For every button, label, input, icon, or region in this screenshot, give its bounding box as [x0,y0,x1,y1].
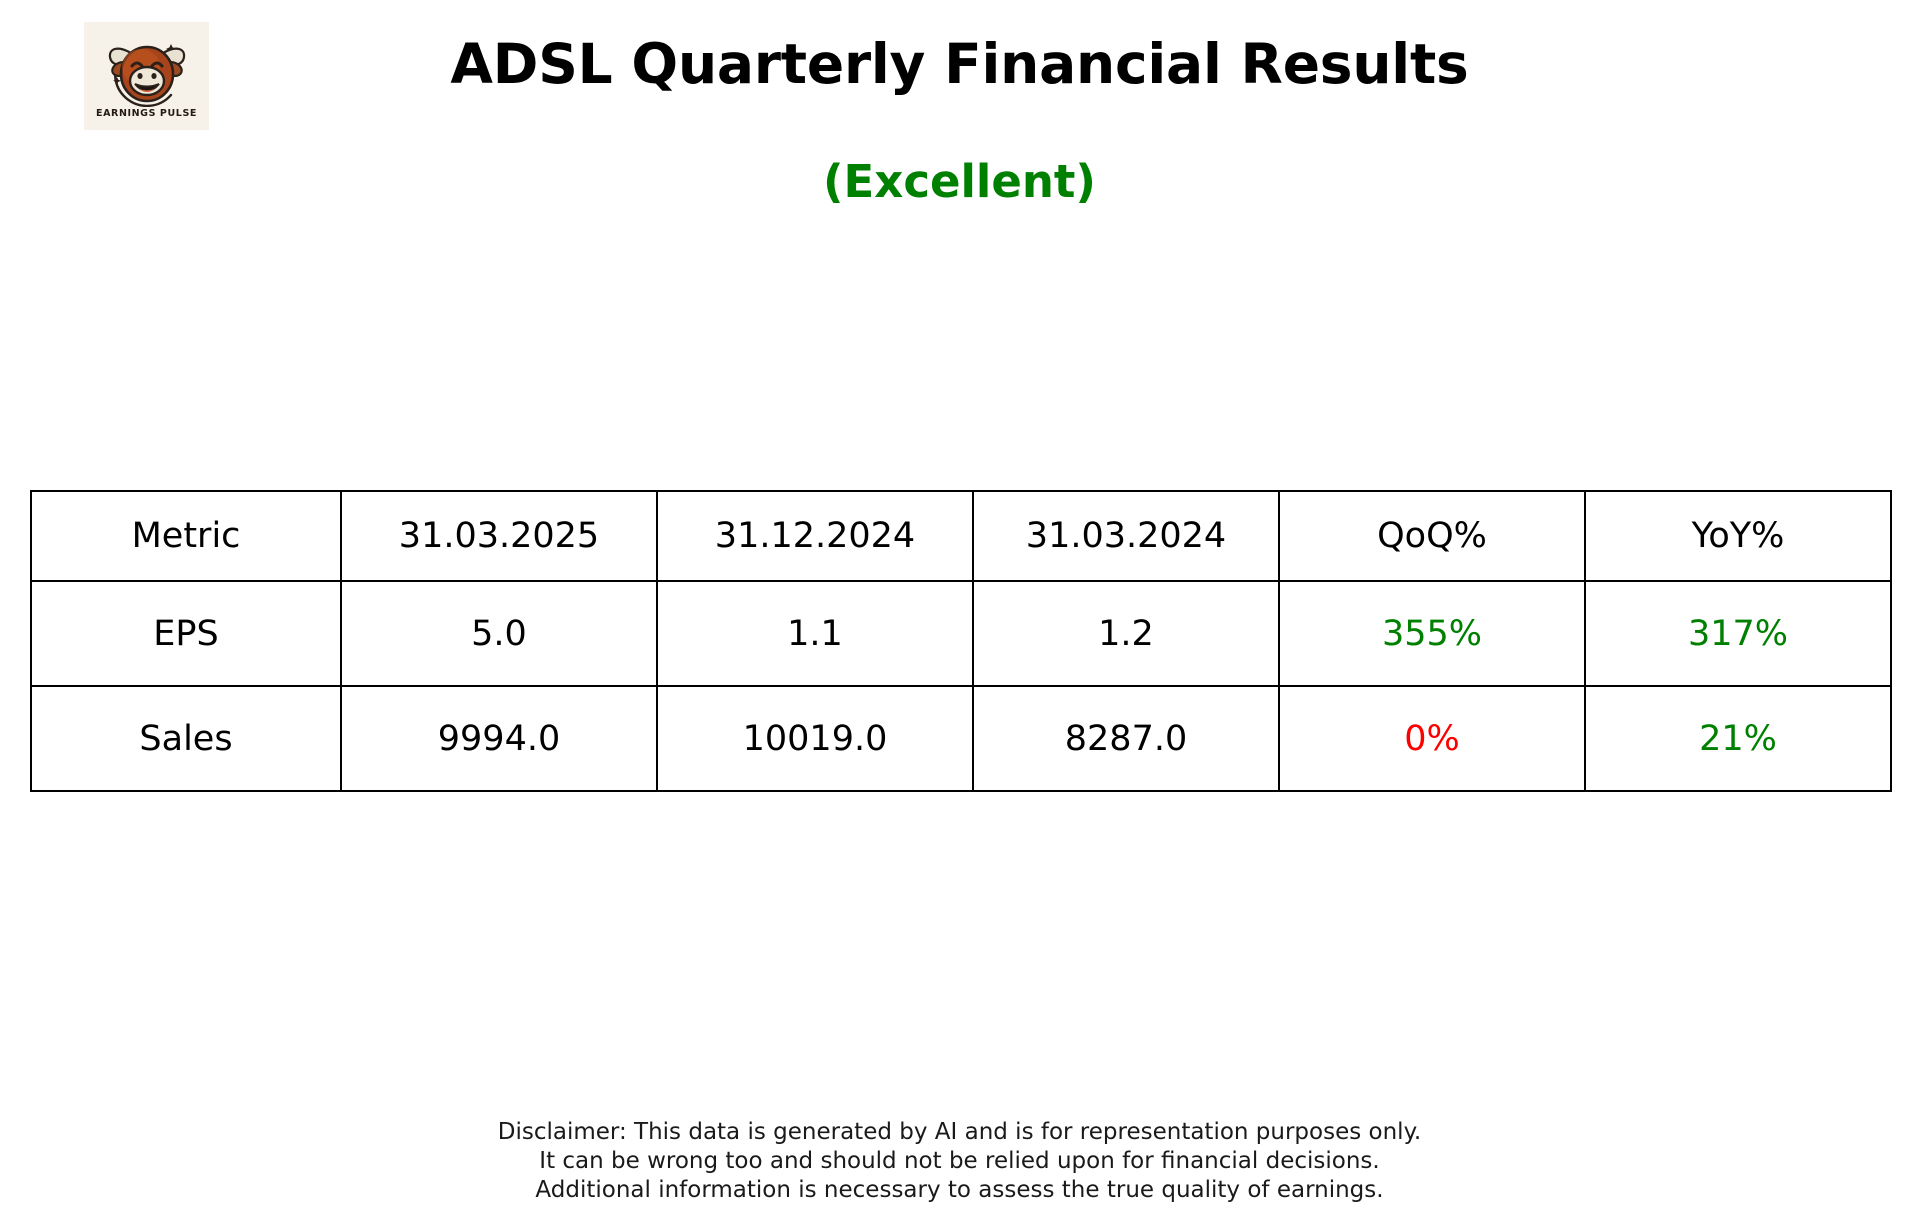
cell-q4-2024: 10019.0 [657,686,973,791]
disclaimer-line-3: Additional information is necessary to a… [0,1176,1919,1205]
column-header-q4-2024: 31.12.2024 [657,491,973,581]
cell-q1-2024: 1.2 [973,581,1279,686]
table-row: Sales 9994.0 10019.0 8287.0 0% 21% [31,686,1891,791]
table-header-row: Metric 31.03.2025 31.12.2024 31.03.2024 … [31,491,1891,581]
logo-wordmark: EARNINGS PULSE [96,108,197,119]
cell-yoy-change: 317% [1585,581,1891,686]
column-header-qoq: QoQ% [1279,491,1585,581]
column-header-metric: Metric [31,491,341,581]
cell-metric-name: Sales [31,686,341,791]
cell-yoy-change: 21% [1585,686,1891,791]
disclaimer-line-2: It can be wrong too and should not be re… [0,1147,1919,1176]
page-title: ADSL Quarterly Financial Results [0,32,1919,96]
cell-q4-2024: 1.1 [657,581,973,686]
table-row: EPS 5.0 1.1 1.2 355% 317% [31,581,1891,686]
cell-q1-2025: 5.0 [341,581,657,686]
column-header-q1-2025: 31.03.2025 [341,491,657,581]
cell-q1-2024: 8287.0 [973,686,1279,791]
disclaimer-line-1: Disclaimer: This data is generated by AI… [0,1118,1919,1147]
quarterly-results-table: Metric 31.03.2025 31.12.2024 31.03.2024 … [30,490,1892,792]
column-header-q1-2024: 31.03.2024 [973,491,1279,581]
cell-metric-name: EPS [31,581,341,686]
cell-q1-2025: 9994.0 [341,686,657,791]
cell-qoq-change: 355% [1279,581,1585,686]
column-header-yoy: YoY% [1585,491,1891,581]
quality-rating-subtitle: (Excellent) [0,155,1919,208]
cell-qoq-change: 0% [1279,686,1585,791]
disclaimer: Disclaimer: This data is generated by AI… [0,1118,1919,1205]
